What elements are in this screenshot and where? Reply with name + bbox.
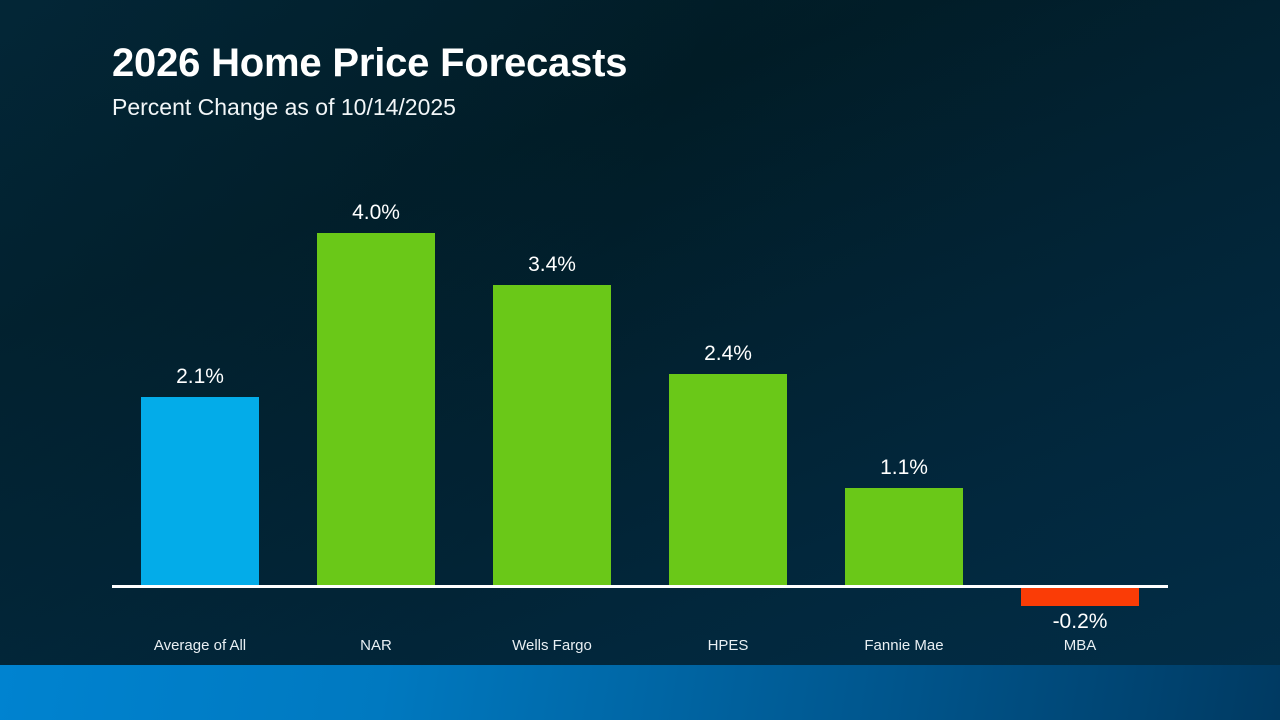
bar[interactable] [141,397,259,585]
bar-group-mba: -0.2%MBA [992,0,1168,665]
bar-value-label: 2.1% [112,365,288,389]
footer-band [0,665,1280,720]
bar[interactable] [845,488,963,585]
bar-group-fannie-mae: 1.1%Fannie Mae [816,0,992,665]
bar[interactable] [669,374,787,585]
category-label: NAR [288,637,464,654]
page-title: 2026 Home Price Forecasts [112,40,627,86]
slide-canvas: 2026 Home Price Forecasts Percent Change… [0,0,1280,720]
bar-value-label: 3.4% [464,253,640,277]
bar-value-label: 1.1% [816,456,992,480]
category-label: Fannie Mae [816,637,992,654]
slide-header: 2026 Home Price Forecasts Percent Change… [112,40,627,120]
page-subtitle: Percent Change as of 10/14/2025 [112,94,627,120]
bar-value-label: 4.0% [288,201,464,225]
bar-value-label: 2.4% [640,342,816,366]
bar[interactable] [1021,588,1139,606]
category-label: HPES [640,637,816,654]
bar-group-hpes: 2.4%HPES [640,0,816,665]
category-label: MBA [992,637,1168,654]
bar[interactable] [493,285,611,585]
category-label: Average of All [112,637,288,654]
bar[interactable] [317,233,435,585]
category-label: Wells Fargo [464,637,640,654]
bar-value-label: -0.2% [992,610,1168,634]
